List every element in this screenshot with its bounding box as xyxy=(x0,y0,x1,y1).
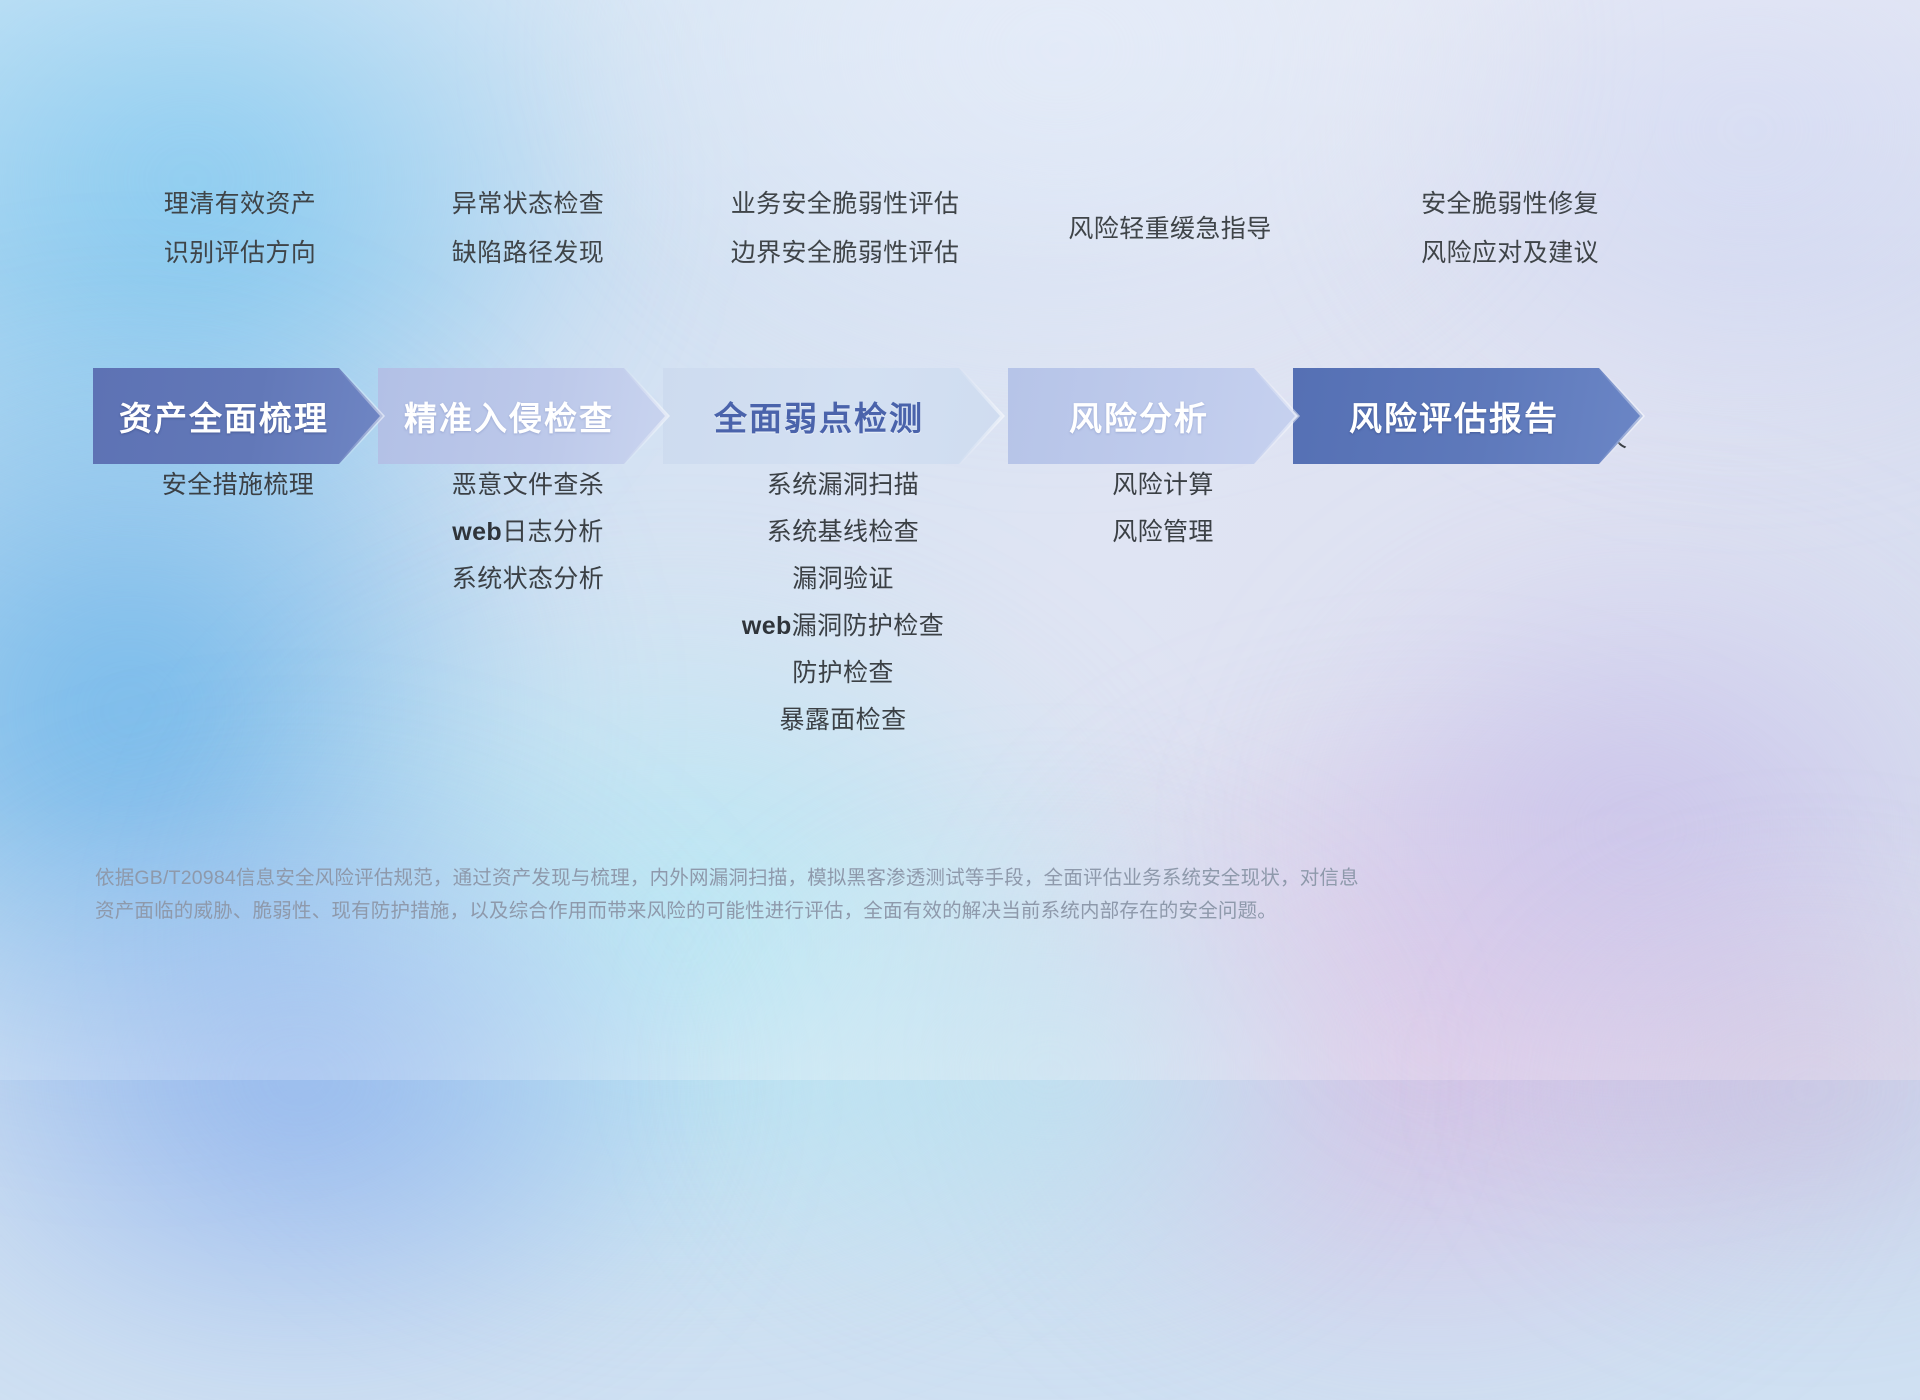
footer-description: 依据GB/T20984信息安全风险评估规范，通过资产发现与梳理，内外网漏洞扫描，… xyxy=(95,862,1655,928)
process-step-1[interactable]: 资产全面梳理 xyxy=(93,368,383,464)
detail-item: 系统漏洞扫描 xyxy=(673,462,1013,509)
top-caption-line: 异常状态检查 xyxy=(383,180,673,229)
detail-item-text: 防护检查 xyxy=(792,659,894,687)
top-caption-line: 识别评估方向 xyxy=(95,229,385,278)
detail-item-keyword: web xyxy=(742,612,792,640)
process-step-label: 风险评估报告 xyxy=(1349,392,1559,440)
detail-item: 漏洞验证 xyxy=(673,556,1013,603)
detail-item: web日志分析 xyxy=(383,509,673,556)
detail-item: 风险计算 xyxy=(1013,462,1313,509)
detail-item: 风险管理 xyxy=(1013,509,1313,556)
detail-item-text: 日志分析 xyxy=(502,518,604,546)
detail-item: 系统状态分析 xyxy=(383,556,673,603)
top-caption-line: 风险应对及建议 xyxy=(1300,229,1720,278)
top-caption-line: 安全脆弱性修复 xyxy=(1300,180,1720,229)
process-step-5[interactable]: 风险评估报告 xyxy=(1293,368,1643,464)
process-step-3[interactable]: 全面弱点检测 xyxy=(663,368,1003,464)
detail-item-text: 风险管理 xyxy=(1112,518,1214,546)
detail-item: 防护检查 xyxy=(673,650,1013,697)
top-caption-column-3: 业务安全脆弱性评估边界安全脆弱性评估 xyxy=(665,180,1025,278)
process-step-label: 全面弱点检测 xyxy=(714,392,924,440)
detail-item: 恶意文件查杀 xyxy=(383,462,673,509)
footer-line-2: 资产面临的威胁、脆弱性、现有防护措施，以及综合作用而带来风险的可能性进行评估，全… xyxy=(95,895,1655,928)
detail-item-text: 暴露面检查 xyxy=(779,706,906,734)
process-step-label: 风险分析 xyxy=(1069,392,1209,440)
top-caption-column-1: 理清有效资产识别评估方向 xyxy=(95,180,385,278)
detail-item: 安全措施梳理 xyxy=(93,462,383,509)
footer-line-1: 依据GB/T20984信息安全风险评估规范，通过资产发现与梳理，内外网漏洞扫描，… xyxy=(95,862,1655,895)
detail-item-keyword: web xyxy=(452,518,502,546)
detail-item-text: 安全措施梳理 xyxy=(162,471,314,499)
detail-item: web漏洞防护检查 xyxy=(673,603,1013,650)
process-step-4[interactable]: 风险分析 xyxy=(1008,368,1298,464)
detail-item-text: 系统基线检查 xyxy=(767,518,919,546)
detail-item: 系统基线检查 xyxy=(673,509,1013,556)
top-caption-line: 业务安全脆弱性评估 xyxy=(665,180,1025,229)
detail-item-text: 漏洞防护检查 xyxy=(792,612,944,640)
top-caption-column-5: 安全脆弱性修复风险应对及建议 xyxy=(1300,180,1720,278)
detail-item-text: 系统漏洞扫描 xyxy=(767,471,919,499)
top-caption-line: 边界安全脆弱性评估 xyxy=(665,229,1025,278)
top-caption-line: 风险轻重缓急指导 xyxy=(1020,205,1320,254)
process-step-label: 精准入侵检查 xyxy=(404,392,614,440)
top-caption-line: 缺陷路径发现 xyxy=(383,229,673,278)
process-step-label: 资产全面梳理 xyxy=(119,392,329,440)
process-step-2[interactable]: 精准入侵检查 xyxy=(378,368,668,464)
detail-item-text: 系统状态分析 xyxy=(452,565,604,593)
detail-column-3: web安全扫描系统漏洞扫描系统基线检查漏洞验证web漏洞防护检查防护检查暴露面检… xyxy=(673,415,1013,744)
detail-item: 暴露面检查 xyxy=(673,697,1013,744)
detail-item-text: 漏洞验证 xyxy=(792,565,894,593)
top-caption-column-2: 异常状态检查缺陷路径发现 xyxy=(383,180,673,278)
diagram-stage: 理清有效资产识别评估方向异常状态检查缺陷路径发现业务安全脆弱性评估边界安全脆弱性… xyxy=(0,0,1920,1080)
top-caption-line: 理清有效资产 xyxy=(95,180,385,229)
top-caption-column-4: 风险轻重缓急指导 xyxy=(1020,205,1320,254)
process-chevron-band: 资产全面梳理精准入侵检查全面弱点检测风险分析风险评估报告 xyxy=(0,368,1920,464)
detail-item-text: 恶意文件查杀 xyxy=(452,471,604,499)
detail-item-text: 风险计算 xyxy=(1112,471,1214,499)
